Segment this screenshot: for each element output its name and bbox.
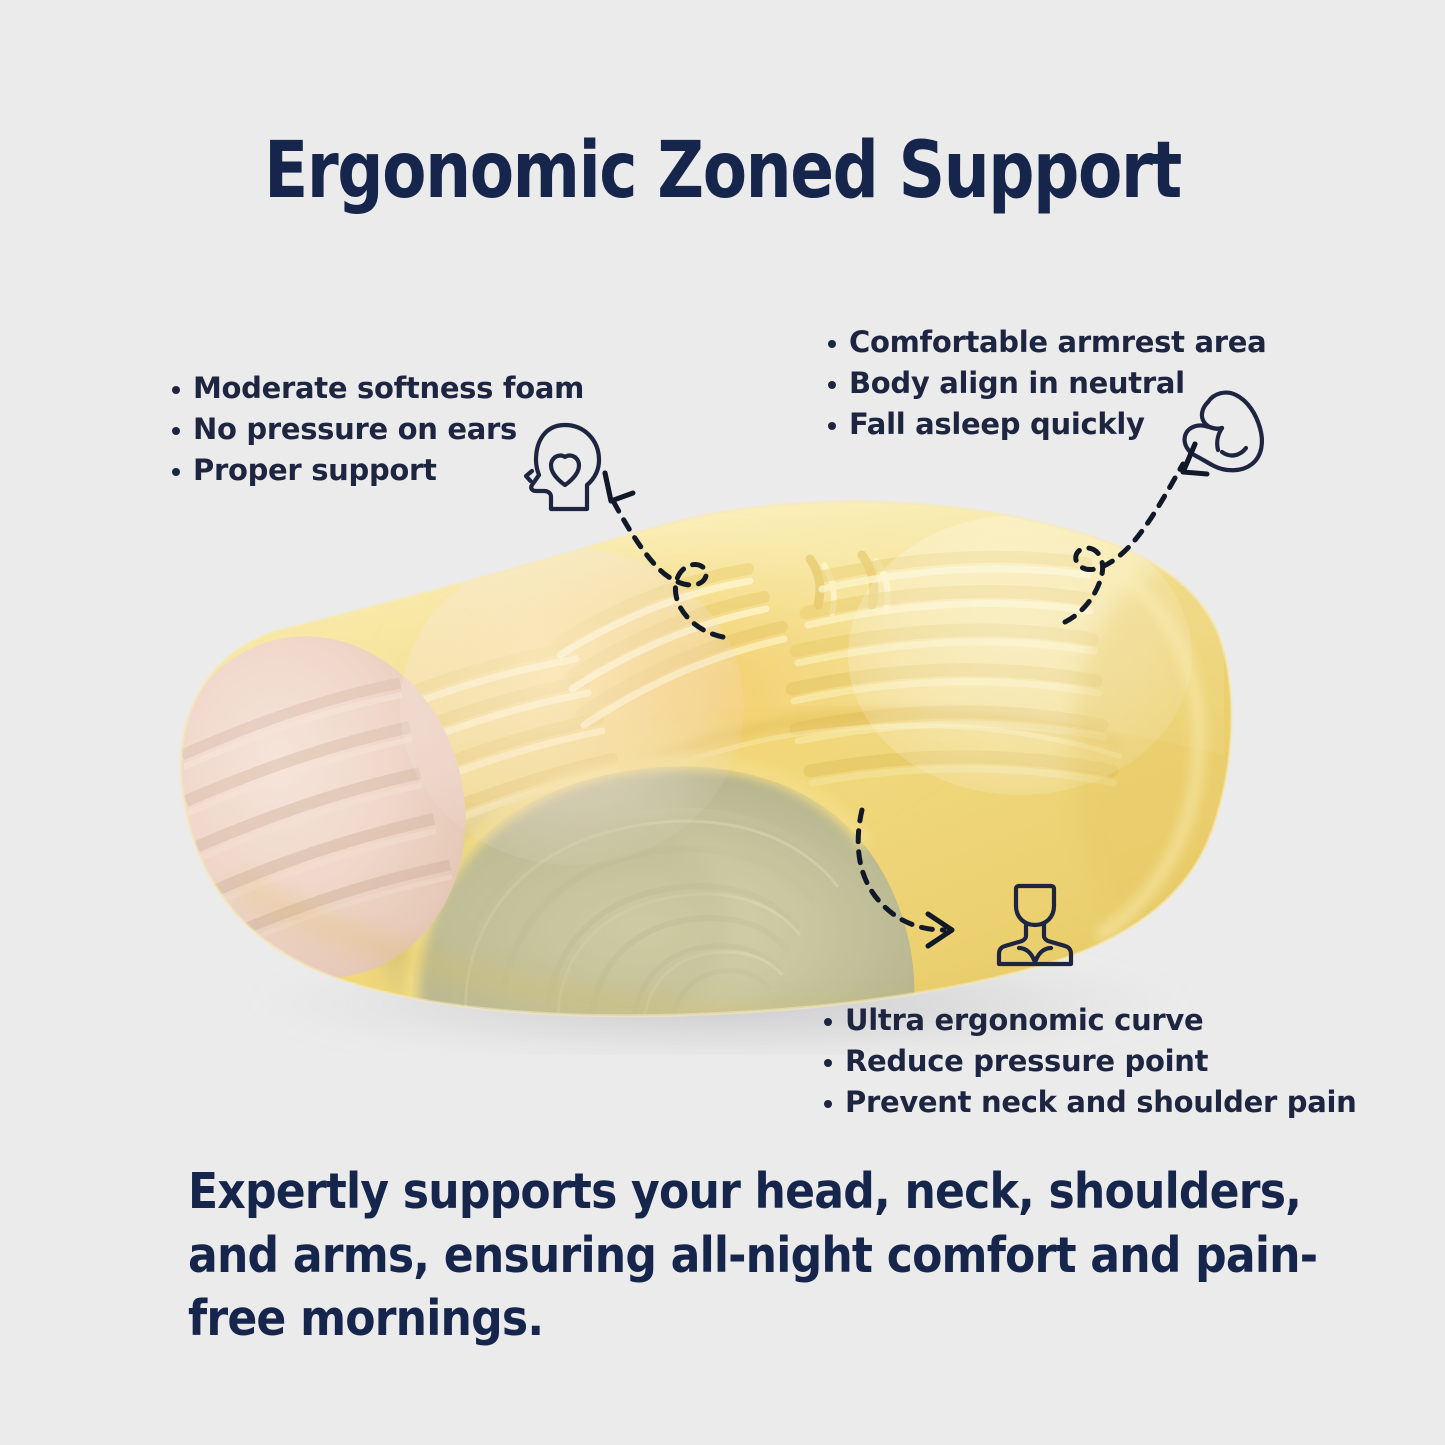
- bullet-dot-icon: [824, 1059, 832, 1067]
- bullet-label: Proper support: [193, 450, 437, 491]
- bullet-label: Ultra ergonomic curve: [845, 1000, 1203, 1041]
- list-item: Reduce pressure point: [824, 1041, 1357, 1082]
- bullet-label: No pressure on ears: [193, 409, 517, 450]
- callout-arrow-bottom-icon: [828, 798, 1008, 973]
- bullet-label: Reduce pressure point: [845, 1041, 1208, 1082]
- footer-caption: Expertly supports your head, neck, shoul…: [188, 1160, 1323, 1351]
- bullet-dot-icon: [172, 427, 180, 435]
- bullet-dot-icon: [172, 468, 180, 476]
- bullet-dot-icon: [828, 422, 836, 430]
- bullet-dot-icon: [172, 386, 180, 394]
- callout-arrow-right-icon: [1055, 430, 1225, 635]
- bullet-dot-icon: [824, 1100, 832, 1108]
- bullet-dot-icon: [828, 381, 836, 389]
- callout-arrow-left-icon: [575, 455, 735, 650]
- list-item: Ultra ergonomic curve: [824, 1000, 1357, 1041]
- bullet-label: Moderate softness foam: [193, 368, 584, 409]
- bullet-label: Body align in neutral: [849, 363, 1185, 404]
- list-item: Moderate softness foam: [172, 368, 584, 409]
- list-item: Comfortable armrest area: [828, 322, 1266, 363]
- callout-bottom-right: Ultra ergonomic curve Reduce pressure po…: [824, 1000, 1357, 1124]
- infographic-canvas: Ergonomic Zoned Support: [0, 0, 1445, 1445]
- bullet-label: Comfortable armrest area: [849, 322, 1266, 363]
- page-title: Ergonomic Zoned Support: [58, 132, 1387, 210]
- bullet-dot-icon: [828, 340, 836, 348]
- bullet-label: Prevent neck and shoulder pain: [845, 1082, 1357, 1123]
- list-item: Prevent neck and shoulder pain: [824, 1082, 1357, 1123]
- bullet-dot-icon: [824, 1018, 832, 1026]
